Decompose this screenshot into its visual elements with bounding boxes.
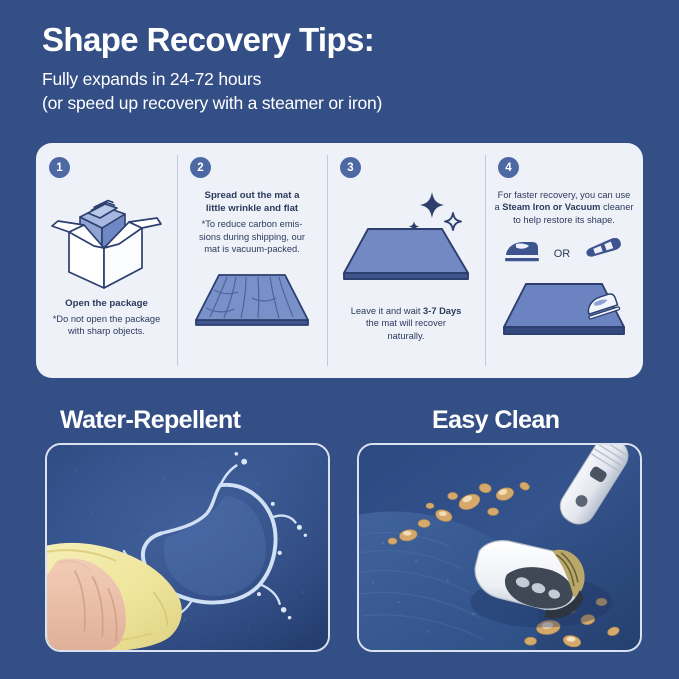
steam-iron-icon	[502, 238, 542, 271]
step-3-badge: 3	[340, 157, 361, 178]
step-4-badge: 4	[498, 157, 519, 178]
step-1-caption-line-2: with sharp objects.	[53, 325, 161, 337]
steps-card: 1	[36, 143, 643, 378]
feature-title-water-repellent: Water-Repellent	[60, 406, 240, 435]
step-3: 3	[327, 143, 485, 378]
step-2-title-line-2: little wrinkle and flat	[199, 203, 305, 216]
step-1-caption: Open the package *Do not open the packag…	[53, 298, 161, 337]
header-subtitle-line-1: Fully expands in 24-72 hours	[42, 67, 642, 91]
step-2-badge: 2	[190, 157, 211, 178]
step-4-body-post: cleaner	[600, 202, 633, 212]
step-2-body-line-1: *To reduce carbon emis-	[199, 218, 305, 230]
photo-water-repellent	[45, 443, 330, 652]
header-subtitle-line-2: (or speed up recovery with a steamer or …	[42, 91, 642, 115]
step-2-title-line-1: Spread out the mat a	[199, 190, 305, 203]
step-3-caption-line-2: the mat will recover	[351, 317, 462, 329]
page-title: Shape Recovery Tips:	[42, 22, 642, 58]
sparkling-mat-illustration	[336, 184, 476, 289]
step-1: 1	[36, 143, 177, 378]
header: Shape Recovery Tips: Fully expands in 24…	[42, 22, 642, 116]
step-2: 2 Spread out the mat a little wrinkle an…	[177, 143, 327, 378]
step-1-caption-bold: Open the package	[53, 298, 161, 311]
step-1-caption-line-1: *Do not open the package	[53, 313, 161, 325]
step-4: 4 For faster recovery, you can use a Ste…	[485, 143, 643, 378]
feature-title-easy-clean: Easy Clean	[432, 406, 559, 435]
step-4-tool-icons: OR	[502, 238, 627, 271]
step-4-body-line-1: For faster recovery, you can use	[494, 189, 633, 201]
step-1-badge: 1	[49, 157, 70, 178]
or-label: OR	[554, 248, 571, 260]
infographic-page: Shape Recovery Tips: Fully expands in 24…	[0, 0, 679, 679]
step-4-body-line-3: to help restore its shape.	[494, 214, 633, 226]
step-3-caption-pre: Leave it and wait	[351, 306, 423, 316]
header-subtitle: Fully expands in 24-72 hours (or speed u…	[42, 67, 642, 115]
step-2-body-line-3: mat is vacuum-packed.	[199, 243, 305, 255]
wrinkled-mat-illustration	[186, 268, 318, 330]
step-2-text: Spread out the mat a little wrinkle and …	[199, 190, 305, 255]
step-2-body-line-2: sions during shipping, our	[199, 231, 305, 243]
step-4-body-line-2: a Steam Iron or Vacuum cleaner	[494, 201, 633, 213]
step-4-text: For faster recovery, you can use a Steam…	[494, 189, 633, 226]
step-3-caption-bold: 3-7 Days	[423, 306, 461, 316]
step-3-caption: Leave it and wait 3-7 Days the mat will …	[351, 305, 462, 342]
photo-easy-clean	[357, 443, 642, 652]
step-3-caption-line-1: Leave it and wait 3-7 Days	[351, 305, 462, 317]
vacuum-nozzle-icon	[582, 238, 626, 271]
step-4-body-bold: Steam Iron or Vacuum	[502, 202, 600, 212]
iron-on-mat-illustration	[494, 279, 634, 339]
step-3-caption-line-3: naturally.	[351, 330, 462, 342]
package-box-illustration	[47, 180, 167, 292]
